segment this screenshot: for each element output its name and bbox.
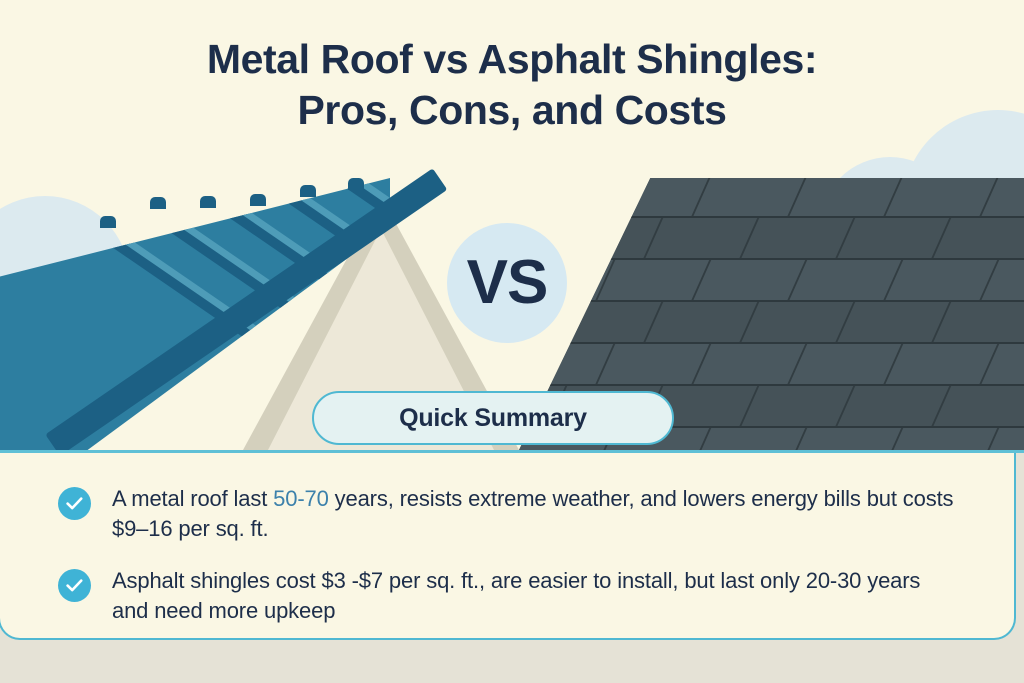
quick-summary-label: Quick Summary (399, 404, 587, 433)
summary-card-top-divider (0, 450, 1024, 453)
shingle-row (519, 342, 1024, 386)
metal-roof-ridge-nub (150, 197, 166, 209)
vs-label: VS (467, 252, 548, 314)
summary-bullet: Asphalt shingles cost $3 -$7 per sq. ft.… (58, 566, 974, 626)
vs-badge: VS (447, 223, 567, 343)
title-line-2: Pros, Cons, and Costs (0, 85, 1024, 136)
metal-roof-ridge-nub (100, 216, 116, 228)
summary-bullet: A metal roof last 50-70 years, resists e… (58, 484, 974, 544)
shingle-row (519, 300, 1024, 344)
metal-roof-ridge-nub (300, 185, 316, 197)
summary-card: A metal roof last 50-70 years, resists e… (0, 450, 1016, 640)
metal-roof-ridge-nub (250, 194, 266, 206)
shingle-seam (977, 428, 999, 450)
shingle-row (519, 258, 1024, 302)
shingle-seam (593, 178, 615, 222)
shingle-row (519, 178, 1024, 218)
metal-roof-ridge-nub (200, 196, 216, 208)
metal-roof-ridge-nub (348, 178, 364, 190)
check-circle-icon (58, 569, 91, 602)
check-circle-icon (58, 487, 91, 520)
shingle-seam (785, 428, 807, 450)
hero-illustration-area: VS Metal Roof vs Asphalt Shingles: Pros,… (0, 0, 1024, 450)
shingle-seam (881, 428, 903, 450)
shingle-seam (689, 428, 711, 450)
title-line-1: Metal Roof vs Asphalt Shingles: (0, 34, 1024, 85)
shingle-row (519, 216, 1024, 260)
quick-summary-pill: Quick Summary (312, 391, 674, 445)
summary-bullet-text: Asphalt shingles cost $3 -$7 per sq. ft.… (112, 566, 962, 626)
page-title: Metal Roof vs Asphalt Shingles: Pros, Co… (0, 34, 1024, 136)
summary-bullet-text: A metal roof last 50-70 years, resists e… (112, 484, 962, 544)
highlighted-value: 50-70 (273, 486, 329, 511)
bullet-text-segment: Asphalt shingles cost $3 -$7 per sq. ft.… (112, 568, 920, 623)
bullet-text-segment: A metal roof last (112, 486, 273, 511)
infographic-root: VS Metal Roof vs Asphalt Shingles: Pros,… (0, 0, 1024, 683)
